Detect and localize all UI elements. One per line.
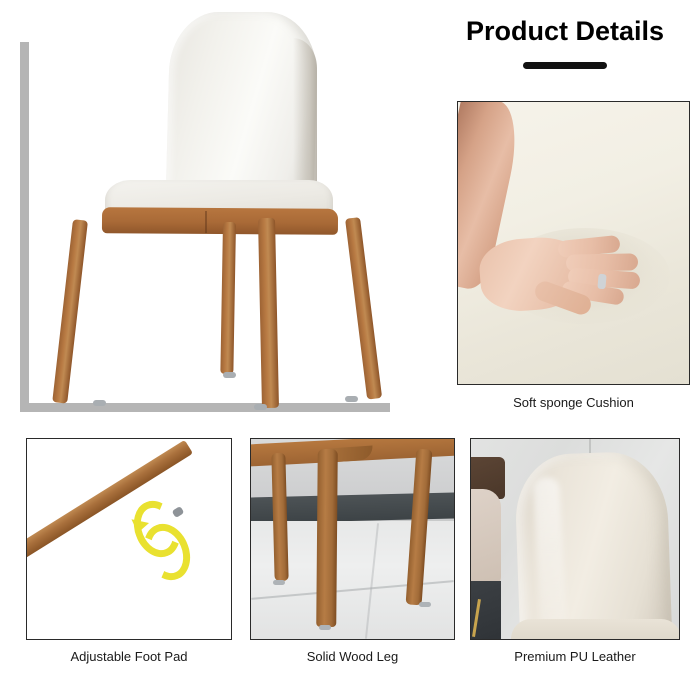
chair-foot-pad-1 <box>93 400 106 406</box>
wood-leg-pad-center <box>319 625 331 630</box>
caption-foot-pad: Adjustable Foot Pad <box>26 648 232 666</box>
caption-wood-leg: Solid Wood Leg <box>250 648 455 666</box>
detail-panel-wood-leg <box>250 438 455 640</box>
caption-pu-leather: Premium PU Leather <box>470 648 680 666</box>
finger-ring <box>597 274 606 290</box>
page-title: Product Details <box>440 14 690 48</box>
chair-foot-pad-2 <box>223 372 236 378</box>
detail-panel-cushion <box>457 101 690 385</box>
title-underline-rule <box>523 62 607 69</box>
wood-leg-pad-right <box>419 602 431 607</box>
chair-leg-front-right <box>345 217 382 399</box>
chair-wood-apron <box>102 207 338 235</box>
wood-leg-pad-left <box>273 580 285 585</box>
chair-leg-front-left <box>52 219 88 404</box>
chair-backrest-shadow <box>293 38 317 202</box>
chair-foot-pad-4 <box>345 396 358 402</box>
chair-leg-back-left <box>220 222 236 374</box>
title-block: Product Details <box>440 14 690 69</box>
chair-apron-seam <box>205 211 207 233</box>
hero-chair-image <box>45 8 390 408</box>
chair-foot-pad-3 <box>254 404 267 410</box>
wood-leg-center <box>316 449 338 627</box>
detail-panel-foot-pad <box>26 438 232 640</box>
chair-leg-back-right <box>258 218 279 408</box>
background-light-object <box>470 489 501 587</box>
pu-leather-seat-edge <box>511 619 680 640</box>
foot-pad-backdrop <box>27 439 231 639</box>
detail-panel-pu-leather <box>470 438 680 640</box>
caption-cushion: Soft sponge Cushion <box>457 394 690 412</box>
product-details-page: Product Details Soft sponge Cushion <box>0 0 700 700</box>
frame-vertical-line <box>20 42 29 412</box>
